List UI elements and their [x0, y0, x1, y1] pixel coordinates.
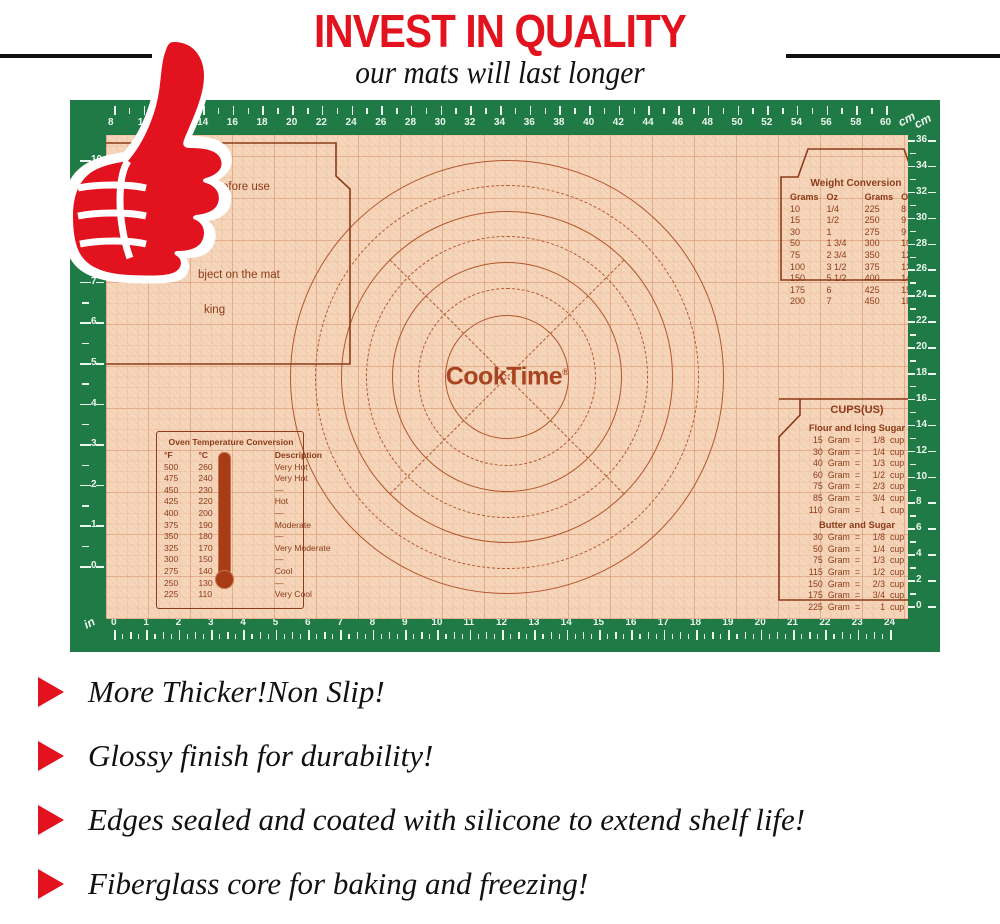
table-cell: 350	[164, 531, 198, 543]
table-cell: 15	[790, 215, 827, 227]
table-cell: Very Hot	[275, 462, 331, 474]
table-cell: 230	[198, 485, 274, 497]
table-cell: Hot	[275, 496, 331, 508]
table-cell: cup	[890, 567, 908, 579]
ruler-tick	[928, 425, 936, 427]
ruler-tick	[928, 373, 936, 375]
table-cell: 260	[198, 462, 274, 474]
table-cell: =	[855, 555, 865, 567]
table-cell: 30	[805, 447, 828, 459]
table-cell: 30	[790, 227, 827, 239]
ruler-tick	[910, 412, 916, 414]
table-cell: 175	[790, 285, 827, 297]
table-cell: 9 3/4	[901, 227, 908, 239]
table-cell: Very Moderate	[275, 543, 331, 555]
instruction-line-3: king	[204, 304, 225, 316]
table-cell: Cool	[275, 566, 331, 578]
table-cell: Gram	[828, 505, 855, 517]
table-cell: 110	[198, 589, 274, 601]
table-cell: cup	[890, 602, 908, 614]
ruler-label: 22	[916, 315, 927, 326]
table-row: 475240Very Hot	[164, 473, 331, 485]
ruler-tick	[910, 541, 916, 543]
table-row: 752 3/435012	[790, 250, 908, 262]
ruler-tick	[928, 528, 936, 530]
table-row: 40Gram=1/3cup	[805, 458, 908, 470]
table-row: 300150—	[164, 554, 331, 566]
table-cell: =	[855, 532, 865, 544]
table-cell: 13	[901, 262, 908, 274]
ruler-tick	[928, 244, 936, 246]
weight-conversion-panel: Weight Conversion GramsOzGramsOz101/4225…	[780, 147, 908, 282]
table-cell: 250	[865, 215, 902, 227]
ruler-tick	[928, 269, 936, 271]
thermometer-icon	[215, 452, 232, 602]
table-cell: 1/3	[865, 458, 890, 470]
table-cell: 1lb	[901, 296, 908, 308]
table-row: 375190Moderate	[164, 520, 331, 532]
ruler-label: 20	[916, 341, 927, 352]
table-cell: 14	[901, 273, 908, 285]
table-cell: =	[855, 579, 865, 591]
ruler-tick	[928, 140, 936, 142]
table-cell: 9	[901, 215, 908, 227]
table-cell: —	[275, 508, 331, 520]
ruler-tick	[928, 166, 936, 168]
ruler-label: 12	[916, 445, 927, 456]
oven-temperature-title: Oven Temperature Conversion	[157, 437, 305, 447]
table-cell: 220	[198, 496, 274, 508]
table-cell: 450	[164, 485, 198, 497]
table-cell: 180	[198, 531, 274, 543]
ruler-label: 10	[916, 471, 927, 482]
table-cell: —	[275, 578, 331, 590]
ruler-label: 32	[916, 186, 927, 197]
table-cell: 7	[827, 296, 865, 308]
table-row: 425220Hot	[164, 496, 331, 508]
registered-mark-icon: ®	[562, 367, 568, 377]
brand-name: CookTime	[446, 363, 562, 391]
feature-text: Glossy finish for durability!	[88, 738, 433, 774]
table-cell: 300	[865, 238, 902, 250]
table-cell: Gram	[828, 470, 855, 482]
table-cell: 275	[865, 227, 902, 239]
feature-item: More Thicker!Non Slip!	[0, 660, 1000, 724]
table-cell: 1	[865, 505, 890, 517]
ruler-label: 28	[916, 238, 927, 249]
ruler-tick	[928, 192, 936, 194]
table-row: 350180—	[164, 531, 331, 543]
table-row: 225Gram=1cup	[805, 602, 908, 614]
feature-text: More Thicker!Non Slip!	[88, 674, 385, 710]
bullet-triangle-icon	[38, 869, 64, 899]
table-row: 501 3/430010 1/2	[790, 238, 908, 250]
table-cell: 6	[827, 285, 865, 297]
ruler-tick	[928, 347, 936, 349]
table-cell: cup	[890, 579, 908, 591]
table-row: 30Gram=1/8cup	[805, 532, 908, 544]
table-cell: 275	[164, 566, 198, 578]
table-cell: 225	[805, 602, 828, 614]
table-cell: 200	[790, 296, 827, 308]
table-cell: —	[275, 531, 331, 543]
table-row: 400200—	[164, 508, 331, 520]
table-cell: =	[855, 447, 865, 459]
ruler-tick	[910, 593, 916, 595]
table-cell: =	[855, 590, 865, 602]
table-cell: 5 1/2	[827, 273, 865, 285]
table-cell: Very Hot	[275, 473, 331, 485]
table-cell: =	[855, 481, 865, 493]
oven-temperature-table: °F°CDescription500260Very Hot475240Very …	[164, 450, 331, 601]
table-row: 75Gram=2/3cup	[805, 481, 908, 493]
ruler-tick	[928, 321, 936, 323]
table-cell: 60	[805, 470, 828, 482]
table-cell: 15	[901, 285, 908, 297]
table-cell: 12	[901, 250, 908, 262]
ruler-tick	[910, 231, 916, 233]
ruler-tick	[910, 153, 916, 155]
table-cell: 140	[198, 566, 274, 578]
table-cell: 425	[164, 496, 198, 508]
table-cell: cup	[890, 435, 908, 447]
table-row: 500260Very Hot	[164, 462, 331, 474]
table-cell: cup	[890, 590, 908, 602]
table-cell: Gram	[828, 447, 855, 459]
ruler-label: 36	[916, 134, 927, 145]
column-header: °C	[198, 450, 274, 462]
table-row: 85Gram=3/4cup	[805, 493, 908, 505]
table-row: 20074501lb	[790, 296, 908, 308]
table-cell: 2/3	[865, 579, 890, 591]
table-cell: 300	[164, 554, 198, 566]
table-cell: 50	[790, 238, 827, 250]
table-cell: 1/8	[865, 532, 890, 544]
cups-section-title: Butter and Sugar	[778, 519, 908, 530]
column-header: Grams	[865, 192, 902, 204]
table-cell: 75	[790, 250, 827, 262]
column-header: Oz	[901, 192, 908, 204]
table-cell: 200	[198, 508, 274, 520]
ruler-tick	[910, 360, 916, 362]
table-cell: cup	[890, 544, 908, 556]
table-cell: 350	[865, 250, 902, 262]
table-cell: 190	[198, 520, 274, 532]
table-cell: 50	[805, 544, 828, 556]
table-cell: 400	[865, 273, 902, 285]
table-row: 325170Very Moderate	[164, 543, 331, 555]
ruler-tick	[910, 567, 916, 569]
table-cell: 400	[164, 508, 198, 520]
ruler-label: 30	[916, 212, 927, 223]
ruler-tick	[910, 515, 916, 517]
table-row: 150Gram=2/3cup	[805, 579, 908, 591]
table-row: 250130—	[164, 578, 331, 590]
table-cell: =	[855, 544, 865, 556]
table-cell: 3 1/2	[827, 262, 865, 274]
table-row: 3012759 3/4	[790, 227, 908, 239]
ruler-tick	[910, 257, 916, 259]
table-cell: Gram	[828, 532, 855, 544]
cups-section-table: 30Gram=1/8cup50Gram=1/4cup75Gram=1/3cup1…	[805, 532, 908, 613]
table-cell: 250	[164, 578, 198, 590]
table-cell: cup	[890, 505, 908, 517]
table-cell: —	[275, 554, 331, 566]
table-cell: 1 3/4	[827, 238, 865, 250]
table-cell: Gram	[828, 481, 855, 493]
table-cell: 115	[805, 567, 828, 579]
table-cell: cup	[890, 470, 908, 482]
table-row: 275140Cool	[164, 566, 331, 578]
table-cell: Gram	[828, 567, 855, 579]
table-cell: cup	[890, 458, 908, 470]
ruler-tick	[910, 308, 916, 310]
table-row: 30Gram=1/4cup	[805, 447, 908, 459]
table-cell: cup	[890, 532, 908, 544]
table-cell: 1	[865, 602, 890, 614]
table-row: 110Gram=1cup	[805, 505, 908, 517]
table-cell: 100	[790, 262, 827, 274]
table-cell: 500	[164, 462, 198, 474]
table-cell: 8	[901, 204, 908, 216]
ruler-label: 16	[916, 393, 927, 404]
table-cell: =	[855, 493, 865, 505]
table-cell: Gram	[828, 579, 855, 591]
table-row: 115Gram=1/2cup	[805, 567, 908, 579]
bullet-triangle-icon	[38, 677, 64, 707]
table-cell: 75	[805, 481, 828, 493]
table-row: 101/42258	[790, 204, 908, 216]
table-row: 450230—	[164, 485, 331, 497]
oven-temperature-panel: Oven Temperature Conversion °F°CDescript…	[156, 431, 304, 609]
table-cell: 150	[805, 579, 828, 591]
table-cell: 375	[865, 262, 902, 274]
table-cell: 225	[865, 204, 902, 216]
table-cell: 2 3/4	[827, 250, 865, 262]
table-cell: 3/4	[865, 493, 890, 505]
table-row: 15Gram=1/8cup	[805, 435, 908, 447]
table-cell: 85	[805, 493, 828, 505]
table-cell: 1/2	[865, 567, 890, 579]
table-row: 1003 1/237513	[790, 262, 908, 274]
table-cell: Gram	[828, 458, 855, 470]
feature-item: Fiberglass core for baking and freezing!	[0, 852, 1000, 916]
brand-logo: CookTime®	[446, 363, 569, 392]
table-cell: 1/4	[865, 447, 890, 459]
table-row: 225110Very Cool	[164, 589, 331, 601]
ruler-tick	[928, 399, 936, 401]
ruler-tick	[928, 218, 936, 220]
table-cell: 1/3	[865, 555, 890, 567]
table-cell: 375	[164, 520, 198, 532]
table-cell: Gram	[828, 555, 855, 567]
table-cell: Moderate	[275, 520, 331, 532]
column-header: Description	[275, 450, 331, 462]
table-cell: 75	[805, 555, 828, 567]
ruler-tick	[910, 334, 916, 336]
ruler-tick	[928, 606, 936, 608]
cups-us-body: Flour and Icing Sugar15Gram=1/8cup30Gram…	[778, 419, 908, 613]
table-cell: 1/2	[865, 470, 890, 482]
weight-conversion-table: GramsOzGramsOz101/42258151/225093012759 …	[790, 192, 908, 308]
table-cell: 10	[790, 204, 827, 216]
column-header: °F	[164, 450, 198, 462]
table-row: 175Gram=3/4cup	[805, 590, 908, 602]
table-cell: 110	[805, 505, 828, 517]
table-cell: 150	[198, 554, 274, 566]
table-cell: Very Cool	[275, 589, 331, 601]
table-cell: 1/4	[865, 544, 890, 556]
table-cell: 240	[198, 473, 274, 485]
table-cell: 2/3	[865, 481, 890, 493]
ruler-label: 8	[916, 496, 922, 507]
ruler-tick	[928, 477, 936, 479]
cups-section-table: 15Gram=1/8cup30Gram=1/4cup40Gram=1/3cup6…	[805, 435, 908, 516]
ruler-tick	[928, 502, 936, 504]
table-cell: 325	[164, 543, 198, 555]
ruler-label: 0	[916, 600, 922, 611]
table-cell: =	[855, 470, 865, 482]
ruler-tick	[910, 438, 916, 440]
ruler-tick	[928, 580, 936, 582]
ruler-tick	[910, 205, 916, 207]
ruler-label: 18	[916, 367, 927, 378]
table-cell: Gram	[828, 590, 855, 602]
column-header: Grams	[790, 192, 827, 204]
feature-item: Glossy finish for durability!	[0, 724, 1000, 788]
feature-text: Edges sealed and coated with silicone to…	[88, 802, 805, 838]
table-cell: 3/4	[865, 590, 890, 602]
table-cell: Gram	[828, 493, 855, 505]
weight-conversion-title: Weight Conversion	[780, 178, 908, 189]
bullet-triangle-icon	[38, 741, 64, 771]
ruler-label: 14	[916, 419, 927, 430]
column-header: Oz	[827, 192, 865, 204]
ruler-tick	[910, 282, 916, 284]
table-cell: =	[855, 505, 865, 517]
table-cell: 130	[198, 578, 274, 590]
ruler-label: 24	[916, 289, 927, 300]
table-cell: cup	[890, 555, 908, 567]
ruler-label: 6	[916, 522, 922, 533]
ruler-tick	[910, 490, 916, 492]
table-cell: —	[275, 485, 331, 497]
cups-us-panel: CUPS(US) Flour and Icing Sugar15Gram=1/8…	[778, 397, 908, 602]
table-cell: 225	[164, 589, 198, 601]
table-cell: 1/4	[827, 204, 865, 216]
ruler-label: 4	[916, 548, 922, 559]
table-cell: 15	[805, 435, 828, 447]
table-cell: cup	[890, 447, 908, 459]
ruler-label: 2	[916, 574, 922, 585]
table-cell: 450	[865, 296, 902, 308]
ruler-unit-label: cm	[912, 111, 934, 132]
table-cell: 1/2	[827, 215, 865, 227]
ruler-tick	[910, 464, 916, 466]
table-cell: 1/8	[865, 435, 890, 447]
ruler-label: 34	[916, 160, 927, 171]
table-cell: Gram	[828, 435, 855, 447]
table-header-row: °F°CDescription	[164, 450, 331, 462]
table-cell: =	[855, 435, 865, 447]
table-row: 175642515	[790, 285, 908, 297]
feature-text: Fiberglass core for baking and freezing!	[88, 866, 588, 902]
ruler-tick	[928, 451, 936, 453]
table-cell: =	[855, 567, 865, 579]
table-row: 50Gram=1/4cup	[805, 544, 908, 556]
table-cell: 175	[805, 590, 828, 602]
ruler-tick	[928, 554, 936, 556]
table-cell: 1	[827, 227, 865, 239]
table-cell: =	[855, 602, 865, 614]
table-cell: 10 1/2	[901, 238, 908, 250]
table-cell: 30	[805, 532, 828, 544]
table-row: 60Gram=1/2cup	[805, 470, 908, 482]
ruler-tick	[928, 295, 936, 297]
feature-list: More Thicker!Non Slip!Glossy finish for …	[0, 660, 1000, 916]
table-row: 1505 1/240014	[790, 273, 908, 285]
cups-section-title: Flour and Icing Sugar	[778, 422, 908, 433]
thumbs-up-icon	[58, 18, 248, 286]
feature-item: Edges sealed and coated with silicone to…	[0, 788, 1000, 852]
table-cell: Gram	[828, 544, 855, 556]
table-cell: 40	[805, 458, 828, 470]
ruler-tick	[910, 386, 916, 388]
table-row: 75Gram=1/3cup	[805, 555, 908, 567]
table-cell: Gram	[828, 602, 855, 614]
table-cell: cup	[890, 481, 908, 493]
table-cell: 425	[865, 285, 902, 297]
bullet-triangle-icon	[38, 805, 64, 835]
table-cell: 475	[164, 473, 198, 485]
cups-us-title: CUPS(US)	[778, 404, 908, 416]
table-cell: cup	[890, 493, 908, 505]
table-row: 151/22509	[790, 215, 908, 227]
table-cell: 150	[790, 273, 827, 285]
ruler-tick	[910, 179, 916, 181]
table-header-row: GramsOzGramsOz	[790, 192, 908, 204]
table-cell: =	[855, 458, 865, 470]
ruler-label: 26	[916, 263, 927, 274]
table-cell: 170	[198, 543, 274, 555]
